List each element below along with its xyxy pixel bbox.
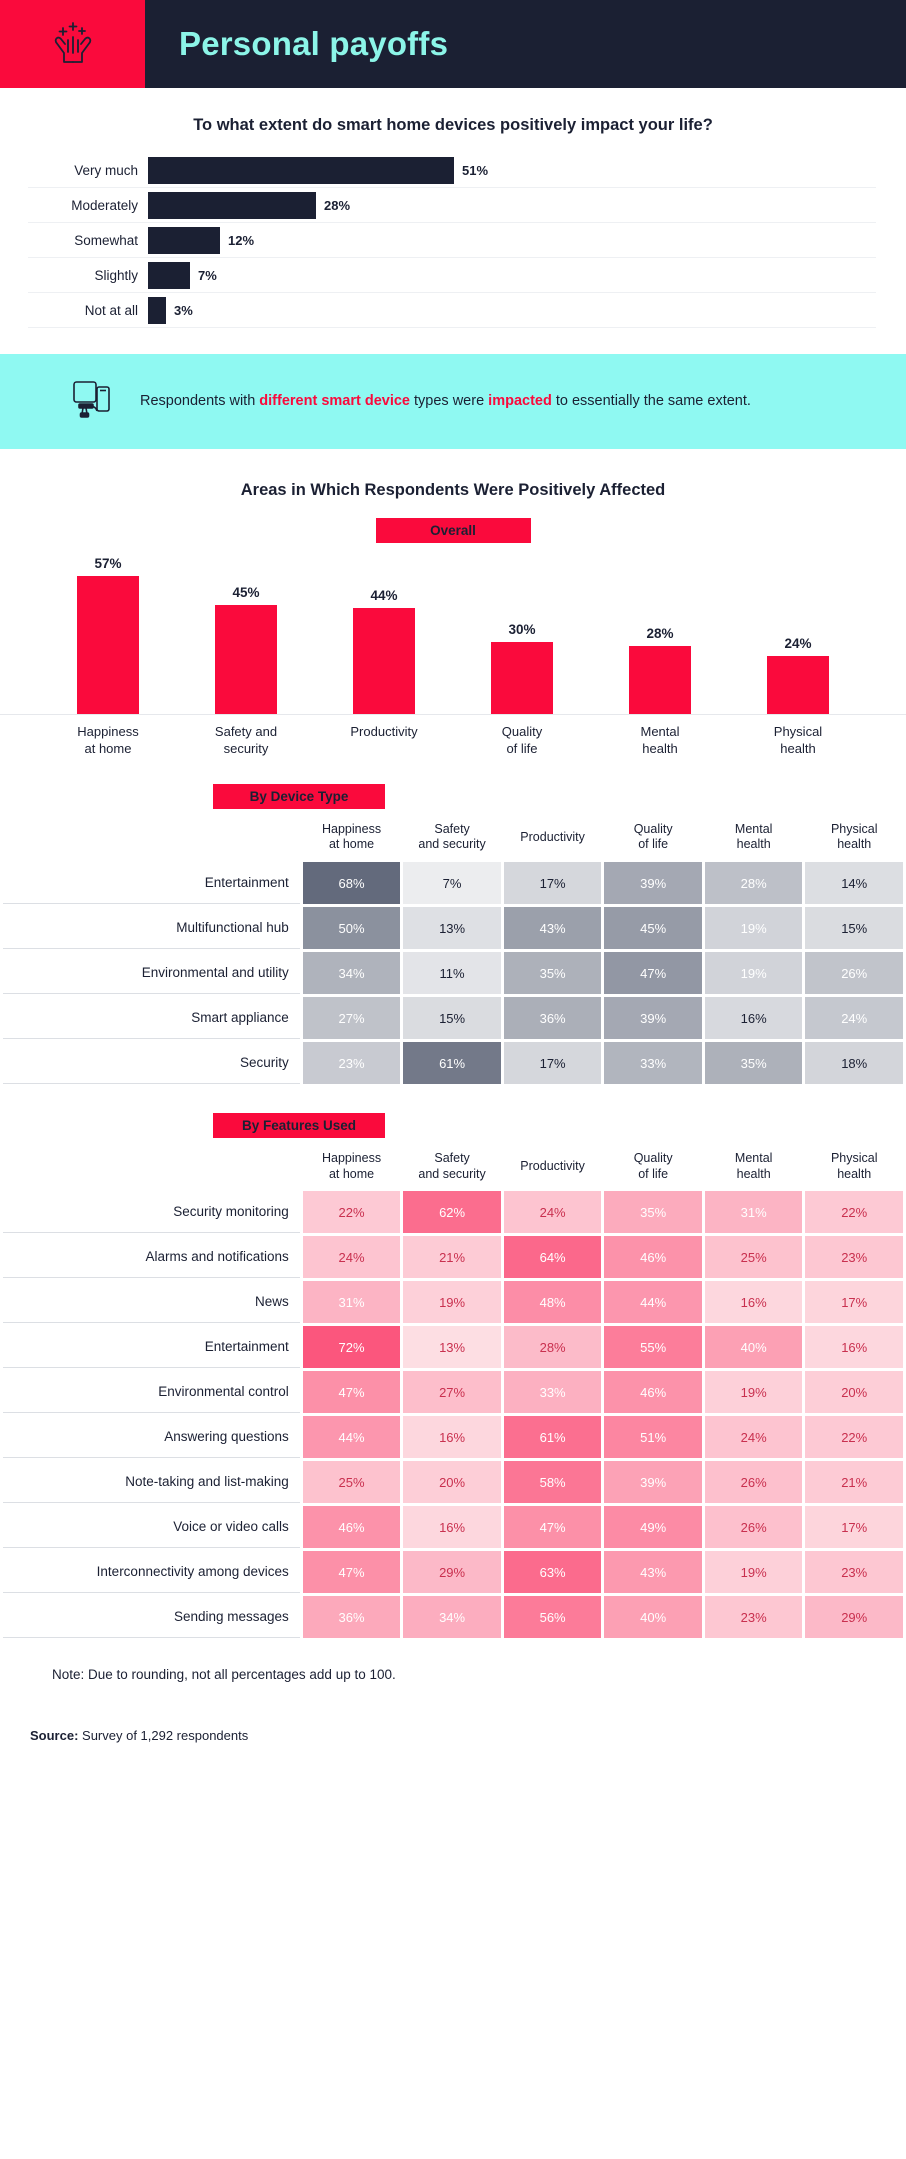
heatmap-cell: 7% — [403, 862, 501, 904]
areas-column-bar — [767, 656, 829, 714]
heatmap-cell: 26% — [705, 1461, 803, 1503]
impact-bar-track: 7% — [148, 258, 876, 292]
heatmap-cell: 72% — [303, 1326, 401, 1368]
heatmap-cell: 39% — [604, 997, 702, 1039]
heatmap-cell: 19% — [705, 952, 803, 994]
callout-highlight-1: different smart device — [259, 393, 410, 409]
heatmap-cell: 24% — [805, 997, 903, 1039]
heatmap-cell: 43% — [504, 907, 602, 949]
table-row-header: Environmental control — [3, 1371, 300, 1413]
page-title: Personal payoffs — [145, 0, 906, 88]
table-row: Alarms and notifications24%21%64%46%25%2… — [3, 1236, 903, 1278]
heatmap-cell: 17% — [805, 1506, 903, 1548]
heatmap-cell: 33% — [604, 1042, 702, 1084]
heatmap-cell: 21% — [805, 1461, 903, 1503]
heatmap-cell: 16% — [403, 1506, 501, 1548]
impact-bar-value: 7% — [198, 268, 217, 283]
table-row: Environmental control47%27%33%46%19%20% — [3, 1371, 903, 1413]
heatmap-cell: 20% — [403, 1461, 501, 1503]
heatmap-cell: 47% — [504, 1506, 602, 1548]
heatmap-cell: 29% — [403, 1551, 501, 1593]
areas-column-label: Happinessat home — [60, 724, 156, 758]
heatmap-cell: 23% — [303, 1042, 401, 1084]
areas-column: 45% — [198, 585, 294, 714]
heatmap-cell: 46% — [604, 1371, 702, 1413]
table-column-header: Physicalhealth — [805, 822, 903, 859]
heatmap-cell: 13% — [403, 1326, 501, 1368]
areas-column-bar — [629, 646, 691, 714]
table-column-header: Safetyand security — [403, 1151, 501, 1188]
heatmap-cell: 29% — [805, 1596, 903, 1638]
table-row-header: Security — [3, 1042, 300, 1084]
heatmap-cell: 18% — [805, 1042, 903, 1084]
heatmap-cell: 23% — [805, 1236, 903, 1278]
heatmap-cell: 16% — [403, 1416, 501, 1458]
impact-bar-row: Somewhat12% — [28, 223, 876, 258]
impact-bar-row: Slightly7% — [28, 258, 876, 293]
impact-bar-row: Moderately28% — [28, 188, 876, 223]
heatmap-cell: 44% — [303, 1416, 401, 1458]
callout-text-2: types were — [410, 393, 488, 409]
areas-column-value: 28% — [646, 626, 673, 641]
impact-bar-value: 28% — [324, 198, 350, 213]
table-corner-cell — [3, 822, 300, 859]
table-column-header: Safetyand security — [403, 822, 501, 859]
table-row: Sending messages36%34%56%40%23%29% — [3, 1596, 903, 1638]
areas-column: 30% — [474, 622, 570, 715]
source-line: Source: Survey of 1,292 respondents — [0, 1682, 906, 1743]
areas-column-chart-section: Areas in Which Respondents Were Positive… — [0, 449, 906, 758]
table-row-header: Entertainment — [3, 1326, 300, 1368]
table-row: Answering questions44%16%61%51%24%22% — [3, 1416, 903, 1458]
heatmap-cell: 40% — [604, 1596, 702, 1638]
heatmap-cell: 16% — [705, 997, 803, 1039]
areas-column: 57% — [60, 556, 156, 714]
areas-column-value: 57% — [94, 556, 121, 571]
heatmap-cell: 19% — [705, 907, 803, 949]
heatmap-cell: 64% — [504, 1236, 602, 1278]
impact-bar-fill — [148, 227, 220, 254]
impact-bar-label: Very much — [28, 163, 148, 178]
source-label: Source: — [30, 1728, 78, 1743]
heatmap-cell: 19% — [705, 1371, 803, 1413]
table-row: Security monitoring22%62%24%35%31%22% — [3, 1191, 903, 1233]
table-row-header: Sending messages — [3, 1596, 300, 1638]
callout-text-3: to essentially the same extent. — [552, 393, 751, 409]
areas-column-label: Physicalhealth — [750, 724, 846, 758]
table-row-header: News — [3, 1281, 300, 1323]
table-row-header: Smart appliance — [3, 997, 300, 1039]
heatmap-cell: 22% — [805, 1416, 903, 1458]
table-row: Note-taking and list-making25%20%58%39%2… — [3, 1461, 903, 1503]
heatmap-cell: 11% — [403, 952, 501, 994]
areas-column-label: Mentalhealth — [612, 724, 708, 758]
heatmap-cell: 27% — [303, 997, 401, 1039]
page-header: Personal payoffs — [0, 0, 906, 88]
heatmap-cell: 51% — [604, 1416, 702, 1458]
heatmap-cell: 47% — [604, 952, 702, 994]
heatmap-cell: 48% — [504, 1281, 602, 1323]
heatmap-cell: 68% — [303, 862, 401, 904]
table-column-header: Productivity — [504, 1151, 602, 1188]
table-row-header: Environmental and utility — [3, 952, 300, 994]
table-row: News31%19%48%44%16%17% — [3, 1281, 903, 1323]
table-row-header: Alarms and notifications — [3, 1236, 300, 1278]
table-corner-cell — [3, 1151, 300, 1188]
smart-devices-icon — [70, 376, 116, 427]
areas-column-label: Safety andsecurity — [198, 724, 294, 758]
impact-bar-label: Somewhat — [28, 233, 148, 248]
overall-pill-label: Overall — [376, 518, 531, 543]
areas-column-bar — [215, 605, 277, 714]
table-row-header: Answering questions — [3, 1416, 300, 1458]
areas-column-label: Productivity — [336, 724, 432, 758]
device-type-heatmap-block: By Device Type Happinessat homeSafetyand… — [0, 784, 906, 1087]
areas-column-value: 44% — [370, 588, 397, 603]
table-column-header: Mentalhealth — [705, 822, 803, 859]
heatmap-cell: 31% — [303, 1281, 401, 1323]
source-text: Survey of 1,292 respondents — [78, 1728, 248, 1743]
heatmap-cell: 15% — [805, 907, 903, 949]
heatmap-cell: 36% — [504, 997, 602, 1039]
heatmap-cell: 28% — [504, 1326, 602, 1368]
areas-column-label: Qualityof life — [474, 724, 570, 758]
heatmap-cell: 22% — [805, 1191, 903, 1233]
table-row: Security23%61%17%33%35%18% — [3, 1042, 903, 1084]
table-column-header: Happinessat home — [303, 822, 401, 859]
heatmap-cell: 35% — [504, 952, 602, 994]
table-row: Multifunctional hub50%13%43%45%19%15% — [3, 907, 903, 949]
heatmap-cell: 35% — [705, 1042, 803, 1084]
areas-column: 44% — [336, 588, 432, 714]
impact-bar-value: 3% — [174, 303, 193, 318]
heatmap-cell: 47% — [303, 1371, 401, 1413]
areas-chart-title: Areas in Which Respondents Were Positive… — [0, 481, 906, 500]
heatmap-cell: 16% — [705, 1281, 803, 1323]
heatmap-cell: 24% — [303, 1236, 401, 1278]
heatmap-cell: 19% — [705, 1551, 803, 1593]
heatmap-cell: 34% — [403, 1596, 501, 1638]
impact-bar-track: 51% — [148, 153, 876, 187]
areas-column-bar — [491, 642, 553, 715]
heatmap-cell: 55% — [604, 1326, 702, 1368]
heatmap-cell: 25% — [705, 1236, 803, 1278]
heatmap-cell: 28% — [705, 862, 803, 904]
impact-bar-fill — [148, 157, 454, 184]
heatmap-cell: 56% — [504, 1596, 602, 1638]
heatmap-cell: 24% — [705, 1416, 803, 1458]
table-column-header: Physicalhealth — [805, 1151, 903, 1188]
features-used-table: Happinessat homeSafetyand securityProduc… — [0, 1148, 906, 1641]
heatmap-cell: 22% — [303, 1191, 401, 1233]
impact-chart-title: To what extent do smart home devices pos… — [0, 116, 906, 135]
table-column-header: Mentalhealth — [705, 1151, 803, 1188]
table-row-header: Interconnectivity among devices — [3, 1551, 300, 1593]
table-column-header: Qualityof life — [604, 822, 702, 859]
heatmap-cell: 19% — [403, 1281, 501, 1323]
impact-bar-label: Not at all — [28, 303, 148, 318]
heatmap-cell: 15% — [403, 997, 501, 1039]
heatmap-cell: 35% — [604, 1191, 702, 1233]
impact-bar-value: 51% — [462, 163, 488, 178]
table-row: Environmental and utility34%11%35%47%19%… — [3, 952, 903, 994]
areas-column-value: 45% — [232, 585, 259, 600]
heatmap-cell: 16% — [805, 1326, 903, 1368]
heatmap-cell: 63% — [504, 1551, 602, 1593]
heatmap-cell: 61% — [504, 1416, 602, 1458]
impact-bar-rows: Very much51%Moderately28%Somewhat12%Slig… — [0, 153, 906, 328]
heatmap-cell: 39% — [604, 862, 702, 904]
rounding-note: Note: Due to rounding, not all percentag… — [0, 1641, 906, 1682]
table-row: Entertainment68%7%17%39%28%14% — [3, 862, 903, 904]
heatmap-cell: 23% — [805, 1551, 903, 1593]
impact-bar-value: 12% — [228, 233, 254, 248]
areas-column-value: 30% — [508, 622, 535, 637]
areas-column: 24% — [750, 636, 846, 714]
table-header-row: Happinessat homeSafetyand securityProduc… — [3, 1151, 903, 1188]
heatmap-cell: 62% — [403, 1191, 501, 1233]
heatmap-cell: 26% — [705, 1506, 803, 1548]
heatmap-cell: 26% — [805, 952, 903, 994]
heatmap-cell: 40% — [705, 1326, 803, 1368]
heatmap-cell: 31% — [705, 1191, 803, 1233]
impact-bar-fill — [148, 297, 166, 324]
heatmap-cell: 46% — [604, 1236, 702, 1278]
heatmap-cell: 33% — [504, 1371, 602, 1413]
heatmap-cell: 17% — [805, 1281, 903, 1323]
table-column-header: Qualityof life — [604, 1151, 702, 1188]
heatmap-cell: 17% — [504, 1042, 602, 1084]
impact-bar-fill — [148, 262, 190, 289]
device-type-table: Happinessat homeSafetyand securityProduc… — [0, 819, 906, 1087]
callout-text-1: Respondents with — [140, 393, 259, 409]
table-row: Smart appliance27%15%36%39%16%24% — [3, 997, 903, 1039]
impact-bar-row: Not at all3% — [28, 293, 876, 328]
heatmap-cell: 44% — [604, 1281, 702, 1323]
table-row-header: Voice or video calls — [3, 1506, 300, 1548]
heatmap-cell: 23% — [705, 1596, 803, 1638]
heatmap-cell: 45% — [604, 907, 702, 949]
features-used-heatmap-block: By Features Used Happinessat homeSafetya… — [0, 1113, 906, 1641]
table-row-header: Entertainment — [3, 862, 300, 904]
heatmap-cell: 36% — [303, 1596, 401, 1638]
impact-bar-track: 3% — [148, 293, 876, 327]
heatmap-cell: 13% — [403, 907, 501, 949]
table-header-row: Happinessat homeSafetyand securityProduc… — [3, 822, 903, 859]
heatmap-cell: 34% — [303, 952, 401, 994]
table-row: Voice or video calls46%16%47%49%26%17% — [3, 1506, 903, 1548]
heatmap-cell: 27% — [403, 1371, 501, 1413]
table-row: Interconnectivity among devices47%29%63%… — [3, 1551, 903, 1593]
hands-sparkle-icon — [47, 18, 99, 70]
by-features-used-pill: By Features Used — [213, 1113, 385, 1138]
heatmap-cell: 58% — [504, 1461, 602, 1503]
heatmap-cell: 50% — [303, 907, 401, 949]
heatmap-cell: 17% — [504, 862, 602, 904]
logo-badge — [0, 0, 145, 88]
impact-bar-label: Slightly — [28, 268, 148, 283]
table-row-header: Security monitoring — [3, 1191, 300, 1233]
impact-bar-fill — [148, 192, 316, 219]
table-row-header: Multifunctional hub — [3, 907, 300, 949]
areas-column-labels: Happinessat homeSafety andsecurityProduc… — [0, 715, 906, 758]
heatmap-cell: 47% — [303, 1551, 401, 1593]
heatmap-cell: 24% — [504, 1191, 602, 1233]
impact-bar-track: 28% — [148, 188, 876, 222]
areas-column-value: 24% — [784, 636, 811, 651]
heatmap-cell: 46% — [303, 1506, 401, 1548]
heatmap-cell: 25% — [303, 1461, 401, 1503]
table-row: Entertainment72%13%28%55%40%16% — [3, 1326, 903, 1368]
insight-callout-text: Respondents with different smart device … — [140, 391, 751, 412]
heatmap-cell: 39% — [604, 1461, 702, 1503]
impact-bar-track: 12% — [148, 223, 876, 257]
impact-bar-label: Moderately — [28, 198, 148, 213]
areas-columns: 57%45%44%30%28%24% — [0, 555, 906, 715]
areas-column: 28% — [612, 626, 708, 714]
heatmap-cell: 43% — [604, 1551, 702, 1593]
heatmap-cell: 49% — [604, 1506, 702, 1548]
callout-highlight-2: impacted — [488, 393, 552, 409]
impact-bar-chart-section: To what extent do smart home devices pos… — [0, 88, 906, 354]
table-column-header: Happinessat home — [303, 1151, 401, 1188]
by-device-type-pill: By Device Type — [213, 784, 385, 809]
heatmap-cell: 14% — [805, 862, 903, 904]
heatmap-cell: 21% — [403, 1236, 501, 1278]
table-row-header: Note-taking and list-making — [3, 1461, 300, 1503]
areas-column-bar — [77, 576, 139, 714]
insight-callout: Respondents with different smart device … — [0, 354, 906, 449]
heatmap-cell: 61% — [403, 1042, 501, 1084]
heatmap-cell: 20% — [805, 1371, 903, 1413]
impact-bar-row: Very much51% — [28, 153, 876, 188]
areas-column-bar — [353, 608, 415, 714]
table-column-header: Productivity — [504, 822, 602, 859]
